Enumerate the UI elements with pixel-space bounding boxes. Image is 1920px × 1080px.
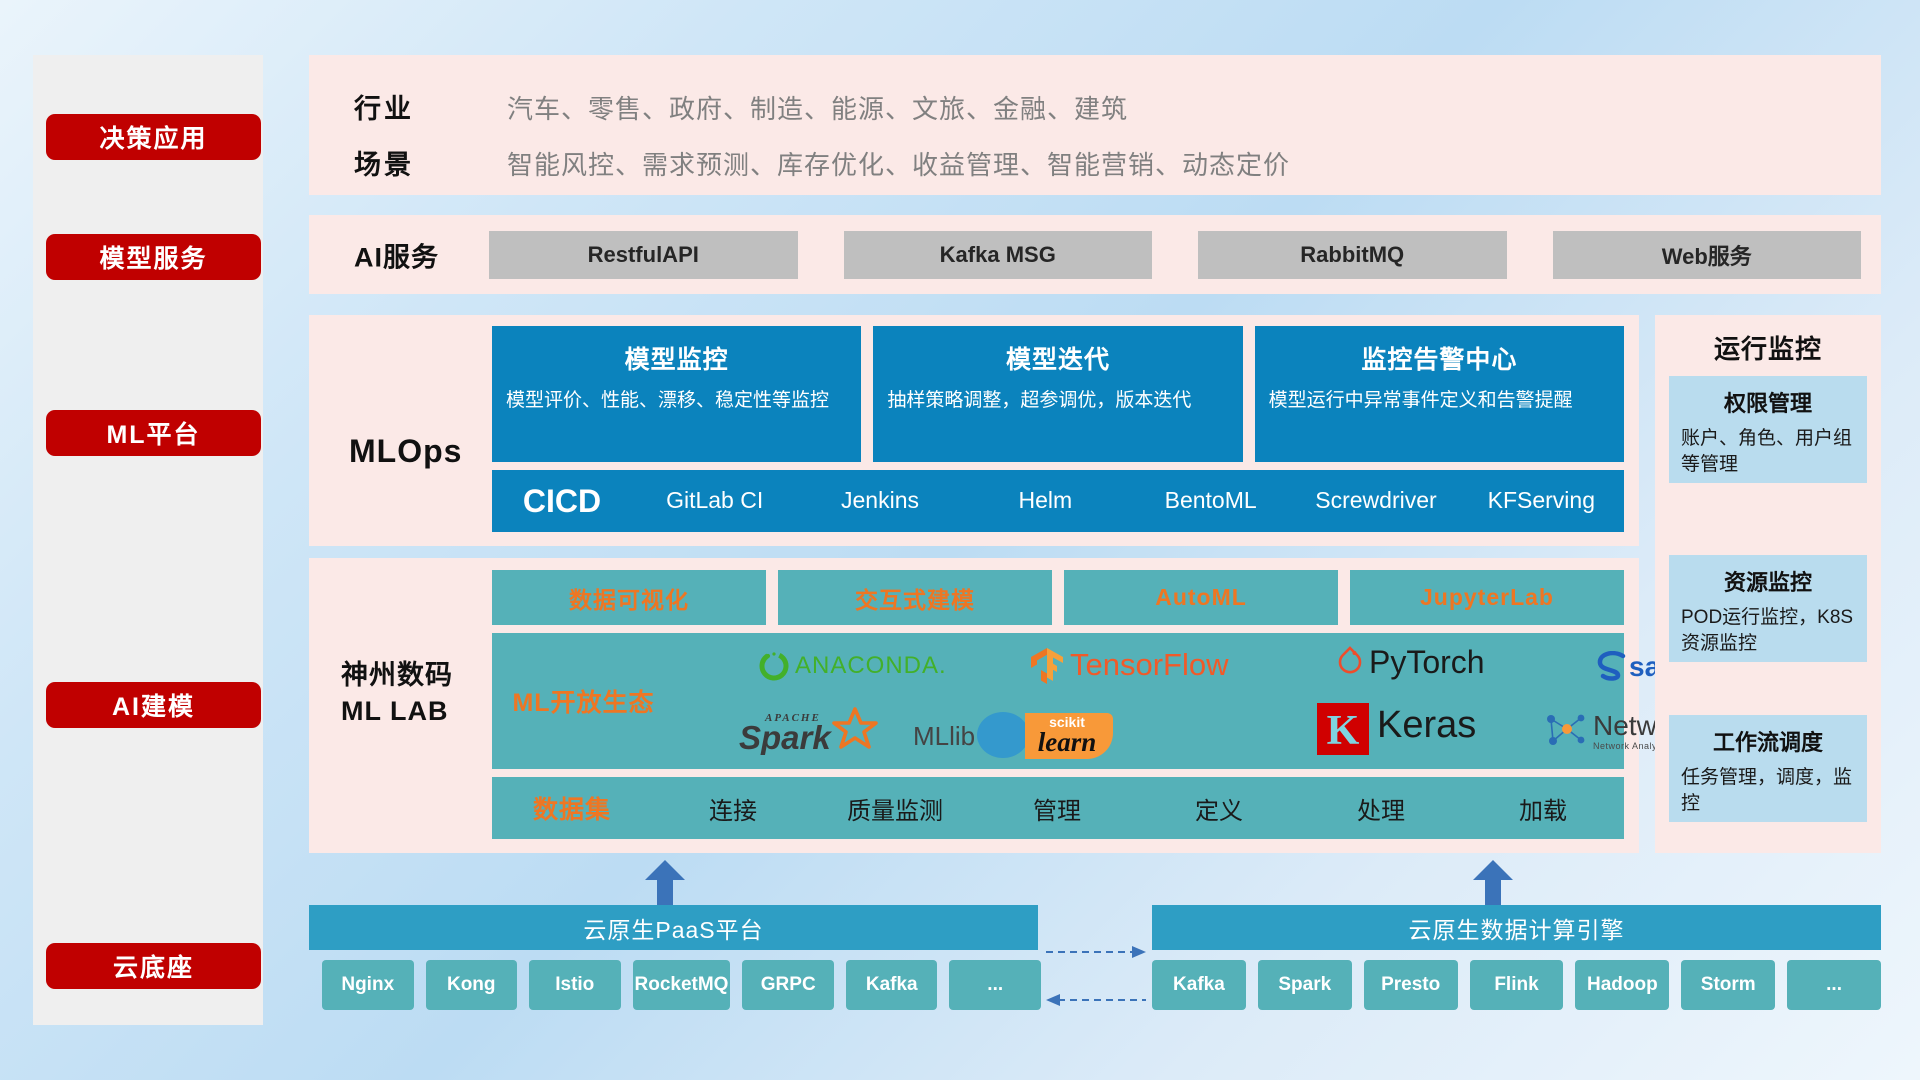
ai-service-panel: AI服务 RestfulAPI Kafka MSG RabbitMQ Web服务 [309,215,1881,294]
dataset-item-load[interactable]: 加载 [1462,791,1624,826]
monitor-card-desc: 账户、角色、用户组等管理 [1681,426,1855,477]
mlops-card-title: 模型迭代 [887,340,1228,376]
rail-chip-label: 模型服务 [99,239,207,275]
cicd-title: CICD [492,483,632,520]
modeling-tab-row: 数据可视化 交互式建模 AutoML JupyterLab [492,570,1624,625]
rail-chip-ml-platform[interactable]: ML平台 [46,410,261,456]
modeling-tab-jupyterlab[interactable]: JupyterLab [1350,570,1624,625]
rail-chip-label: 决策应用 [99,119,207,155]
svg-text:Spark: Spark [739,719,832,755]
paas-tag-more[interactable]: ... [949,960,1041,1010]
industry-label: 行业 [354,87,414,126]
engine-tag-spark[interactable]: Spark [1258,960,1352,1010]
cicd-item-gitlab-ci[interactable]: GitLab CI [632,487,797,514]
ai-service-button-web-service[interactable]: Web服务 [1553,231,1862,279]
runtime-monitor-panel: 运行监控 权限管理 账户、角色、用户组等管理 资源监控 POD运行监控，K8S资… [1655,315,1881,853]
ai-service-label: AI服务 [354,235,439,274]
paas-tag-row: Nginx Kong Istio RocketMQ GRPC Kafka ... [322,960,1041,1010]
rail-chip-cloud-foundation[interactable]: 云底座 [46,943,261,989]
rail-chip-label: AI建模 [112,687,195,723]
industry-list: 汽车、零售、政府、制造、能源、文旅、金融、建筑 [507,89,1128,126]
monitor-card-permission[interactable]: 权限管理 账户、角色、用户组等管理 [1669,376,1867,483]
ml-open-ecosystem-band: ML开放生态 ANACONDA. [492,633,1624,769]
ml-lab-label: 神州数码 ML LAB [341,658,491,729]
dataset-bar: 数据集 连接 质量监测 管理 定义 处理 加载 [492,777,1624,839]
ecosystem-logo-area: ANACONDA. TensorFlow [675,633,1624,769]
scene-label: 场景 [354,143,414,182]
ai-service-button-restfulapi[interactable]: RestfulAPI [489,231,798,279]
engine-tag-more[interactable]: ... [1787,960,1881,1010]
mlops-card-desc: 模型评价、性能、漂移、稳定性等监控 [506,388,847,414]
modeling-tab-interactive-modeling[interactable]: 交互式建模 [778,570,1052,625]
engine-tag-kafka[interactable]: Kafka [1152,960,1246,1010]
sas-logo: sas [1595,651,1631,686]
anaconda-logo: ANACONDA. [757,649,791,688]
paas-tag-istio[interactable]: Istio [529,960,621,1010]
paas-tag-nginx[interactable]: Nginx [322,960,414,1010]
mlops-card-model-iteration[interactable]: 模型迭代 抽样策略调整，超参调优，版本迭代 [873,326,1242,462]
cicd-bar: CICD GitLab CI Jenkins Helm BentoML Scre… [492,470,1624,532]
mlops-card-alert-center[interactable]: 监控告警中心 模型运行中异常事件定义和告警提醒 [1255,326,1624,462]
paas-tag-grpc[interactable]: GRPC [742,960,834,1010]
dashed-arrow-right-icon [1046,945,1146,959]
anaconda-logo-text: ANACONDA. [795,652,947,680]
mlops-card-desc: 模型运行中异常事件定义和告警提醒 [1269,388,1610,414]
mlops-card-model-monitoring[interactable]: 模型监控 模型评价、性能、漂移、稳定性等监控 [492,326,861,462]
ai-service-button-row: RestfulAPI Kafka MSG RabbitMQ Web服务 [489,231,1861,279]
rail-chip-label: ML平台 [106,415,200,451]
modeling-tab-automl[interactable]: AutoML [1064,570,1338,625]
ai-service-button-kafka-msg[interactable]: Kafka MSG [844,231,1153,279]
ai-modeling-panel: 神州数码 ML LAB 数据可视化 交互式建模 AutoML JupyterLa… [309,558,1639,853]
up-arrow-left-icon [645,860,685,906]
left-rail [33,55,263,1025]
monitor-card-title: 权限管理 [1681,386,1855,418]
scikit-learn-logo: scikit learn [975,707,1165,764]
industry-scene-panel: 行业 汽车、零售、政府、制造、能源、文旅、金融、建筑 场景 智能风控、需求预测、… [309,55,1881,195]
diagram-canvas: 决策应用 模型服务 ML平台 AI建模 云底座 行业 汽车、零售、政府、制造、能… [0,0,1920,1080]
paas-tag-rocketmq[interactable]: RocketMQ [633,960,731,1010]
rail-chip-decision-application[interactable]: 决策应用 [46,114,261,160]
monitor-card-title: 资源监控 [1681,565,1855,597]
rail-chip-model-service[interactable]: 模型服务 [46,234,261,280]
engine-tag-row: Kafka Spark Presto Flink Hadoop Storm ..… [1152,960,1881,1010]
ai-service-button-rabbitmq[interactable]: RabbitMQ [1198,231,1507,279]
mlops-card-title: 模型监控 [506,340,847,376]
cloud-native-paas-bar[interactable]: 云原生PaaS平台 [309,905,1038,950]
engine-tag-hadoop[interactable]: Hadoop [1575,960,1669,1010]
engine-tag-flink[interactable]: Flink [1470,960,1564,1010]
cicd-item-kfserving[interactable]: KFServing [1459,487,1624,514]
paas-tag-kafka[interactable]: Kafka [846,960,938,1010]
up-arrow-right-icon [1473,860,1513,906]
ml-open-ecosystem-label: ML开放生态 [492,683,675,719]
dashed-arrow-left-icon [1046,993,1146,1007]
cicd-item-bentoml[interactable]: BentoML [1128,487,1293,514]
rail-chip-ai-modeling[interactable]: AI建模 [46,682,261,728]
pytorch-logo: PyTorch [1335,645,1365,686]
monitor-card-desc: POD运行监控，K8S资源监控 [1681,605,1855,656]
cicd-item-jenkins[interactable]: Jenkins [797,487,962,514]
modeling-tab-data-visualization[interactable]: 数据可视化 [492,570,766,625]
scene-list: 智能风控、需求预测、库存优化、收益管理、智能营销、动态定价 [507,145,1290,182]
svg-text:learn: learn [1038,727,1097,757]
ml-lab-label-line2: ML LAB [341,694,491,730]
tensorflow-logo: TensorFlow [1030,646,1064,689]
keras-logo: K Keras [1315,701,1371,762]
runtime-monitor-title: 运行监控 [1655,329,1881,366]
cicd-item-screwdriver[interactable]: Screwdriver [1293,487,1458,514]
spark-mllib-text: MLlib [913,721,975,752]
cicd-item-helm[interactable]: Helm [963,487,1128,514]
mlops-card-title: 监控告警中心 [1269,340,1610,376]
pytorch-logo-text: PyTorch [1369,644,1485,681]
mlops-label: MLOps [349,433,462,470]
monitor-card-resource[interactable]: 资源监控 POD运行监控，K8S资源监控 [1669,555,1867,662]
cloud-native-engine-label: 云原生数据计算引擎 [1409,911,1625,945]
monitor-card-title: 工作流调度 [1681,725,1855,757]
rail-chip-label: 云底座 [113,948,194,984]
mlops-card-desc: 抽样策略调整，超参调优，版本迭代 [887,388,1228,414]
mlops-panel: MLOps 模型监控 模型评价、性能、漂移、稳定性等监控 模型迭代 抽样策略调整… [309,315,1639,546]
engine-tag-storm[interactable]: Storm [1681,960,1775,1010]
spark-mllib-logo: APACHE Spark MLlib [737,705,907,760]
networkx-logo: NetworkX Network Analysis in Python [1541,709,1589,758]
ml-lab-label-line1: 神州数码 [341,658,491,694]
dataset-item-connect[interactable]: 连接 [652,791,814,826]
cloud-native-engine-bar[interactable]: 云原生数据计算引擎 [1152,905,1881,950]
paas-tag-kong[interactable]: Kong [426,960,518,1010]
monitor-card-desc: 任务管理，调度，监控 [1681,765,1855,816]
dataset-item-quality-monitor[interactable]: 质量监测 [814,791,976,826]
cloud-native-paas-label: 云原生PaaS平台 [583,911,763,945]
svg-text:K: K [1327,708,1360,754]
dataset-title: 数据集 [492,790,652,826]
mlops-card-row: 模型监控 模型评价、性能、漂移、稳定性等监控 模型迭代 抽样策略调整，超参调优，… [492,326,1624,462]
tensorflow-logo-text: TensorFlow [1070,647,1229,683]
cicd-item-list: GitLab CI Jenkins Helm BentoML Screwdriv… [632,487,1624,514]
keras-logo-text: Keras [1377,704,1476,747]
monitor-card-workflow[interactable]: 工作流调度 任务管理，调度，监控 [1669,715,1867,822]
dataset-item-process[interactable]: 处理 [1300,791,1462,826]
dataset-item-list: 连接 质量监测 管理 定义 处理 加载 [652,791,1624,826]
dataset-item-manage[interactable]: 管理 [976,791,1138,826]
engine-tag-presto[interactable]: Presto [1364,960,1458,1010]
dataset-item-define[interactable]: 定义 [1138,791,1300,826]
